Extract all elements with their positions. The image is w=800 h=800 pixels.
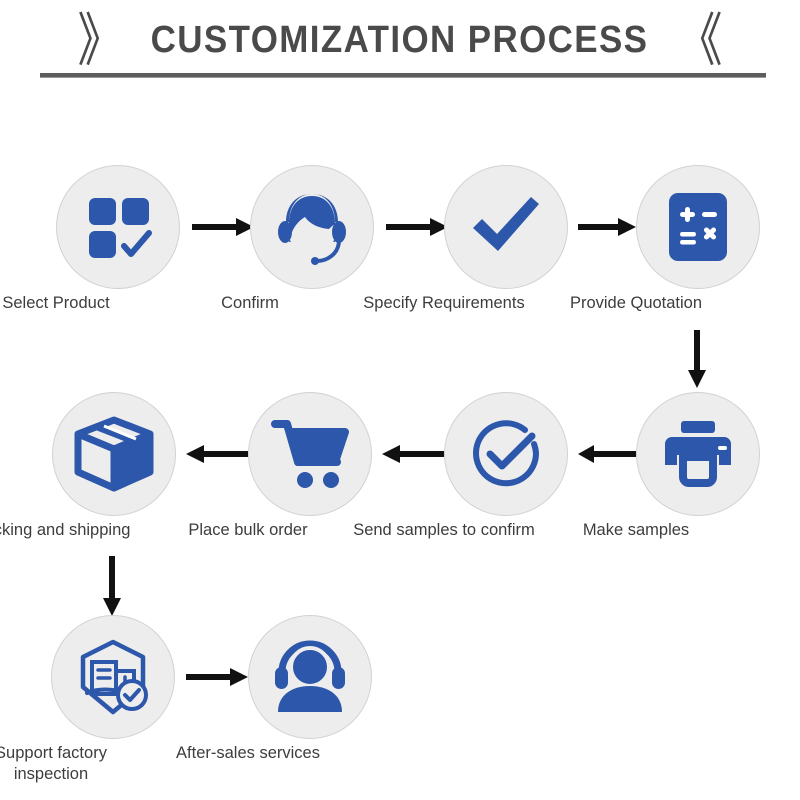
calculator-icon xyxy=(663,190,733,264)
arrow-down-left xyxy=(101,556,123,616)
support-person-icon xyxy=(270,640,350,714)
arrow-left-1 xyxy=(186,443,248,465)
grid-check-icon xyxy=(81,190,155,264)
step-icon-circle xyxy=(248,392,372,516)
printer-icon xyxy=(660,419,736,489)
arrow-right-2 xyxy=(386,216,448,238)
arrow-right-1 xyxy=(192,216,254,238)
step-icon-circle xyxy=(444,165,568,289)
title-row: 》 CUSTOMIZATION PROCESS 《 xyxy=(0,12,800,68)
step-label: After-sales services xyxy=(133,743,363,764)
chevron-right-decor: 《 xyxy=(677,11,723,69)
package-box-icon xyxy=(74,416,154,492)
arrow-right-4 xyxy=(186,666,248,688)
step-label: Support factory inspection xyxy=(0,743,126,784)
shopping-cart-icon xyxy=(271,418,349,490)
page-header: 》 CUSTOMIZATION PROCESS 《 xyxy=(0,0,800,90)
chevron-left-decor: 》 xyxy=(77,11,123,69)
step-icon-circle xyxy=(52,392,176,516)
step-icon-circle xyxy=(444,392,568,516)
arrow-right-3 xyxy=(578,216,636,238)
step-icon-circle xyxy=(250,165,374,289)
step-icon-circle xyxy=(51,615,175,739)
step-label: Provide Quotation xyxy=(521,293,751,314)
arrow-left-3 xyxy=(578,443,636,465)
factory-inspection-shield-icon xyxy=(73,637,153,717)
step-icon-circle xyxy=(636,392,760,516)
page-title: CUSTOMIZATION PROCESS xyxy=(151,19,649,62)
step-icon-circle xyxy=(636,165,760,289)
arrow-down-right xyxy=(686,330,708,388)
step-label: Make samples xyxy=(521,520,751,541)
title-divider xyxy=(40,73,766,78)
step-icon-circle xyxy=(248,615,372,739)
arrow-left-2 xyxy=(382,443,444,465)
step-icon-circle xyxy=(56,165,180,289)
checkmark-icon xyxy=(467,188,545,266)
headset-agent-icon xyxy=(273,188,351,266)
circle-check-icon xyxy=(468,416,544,492)
